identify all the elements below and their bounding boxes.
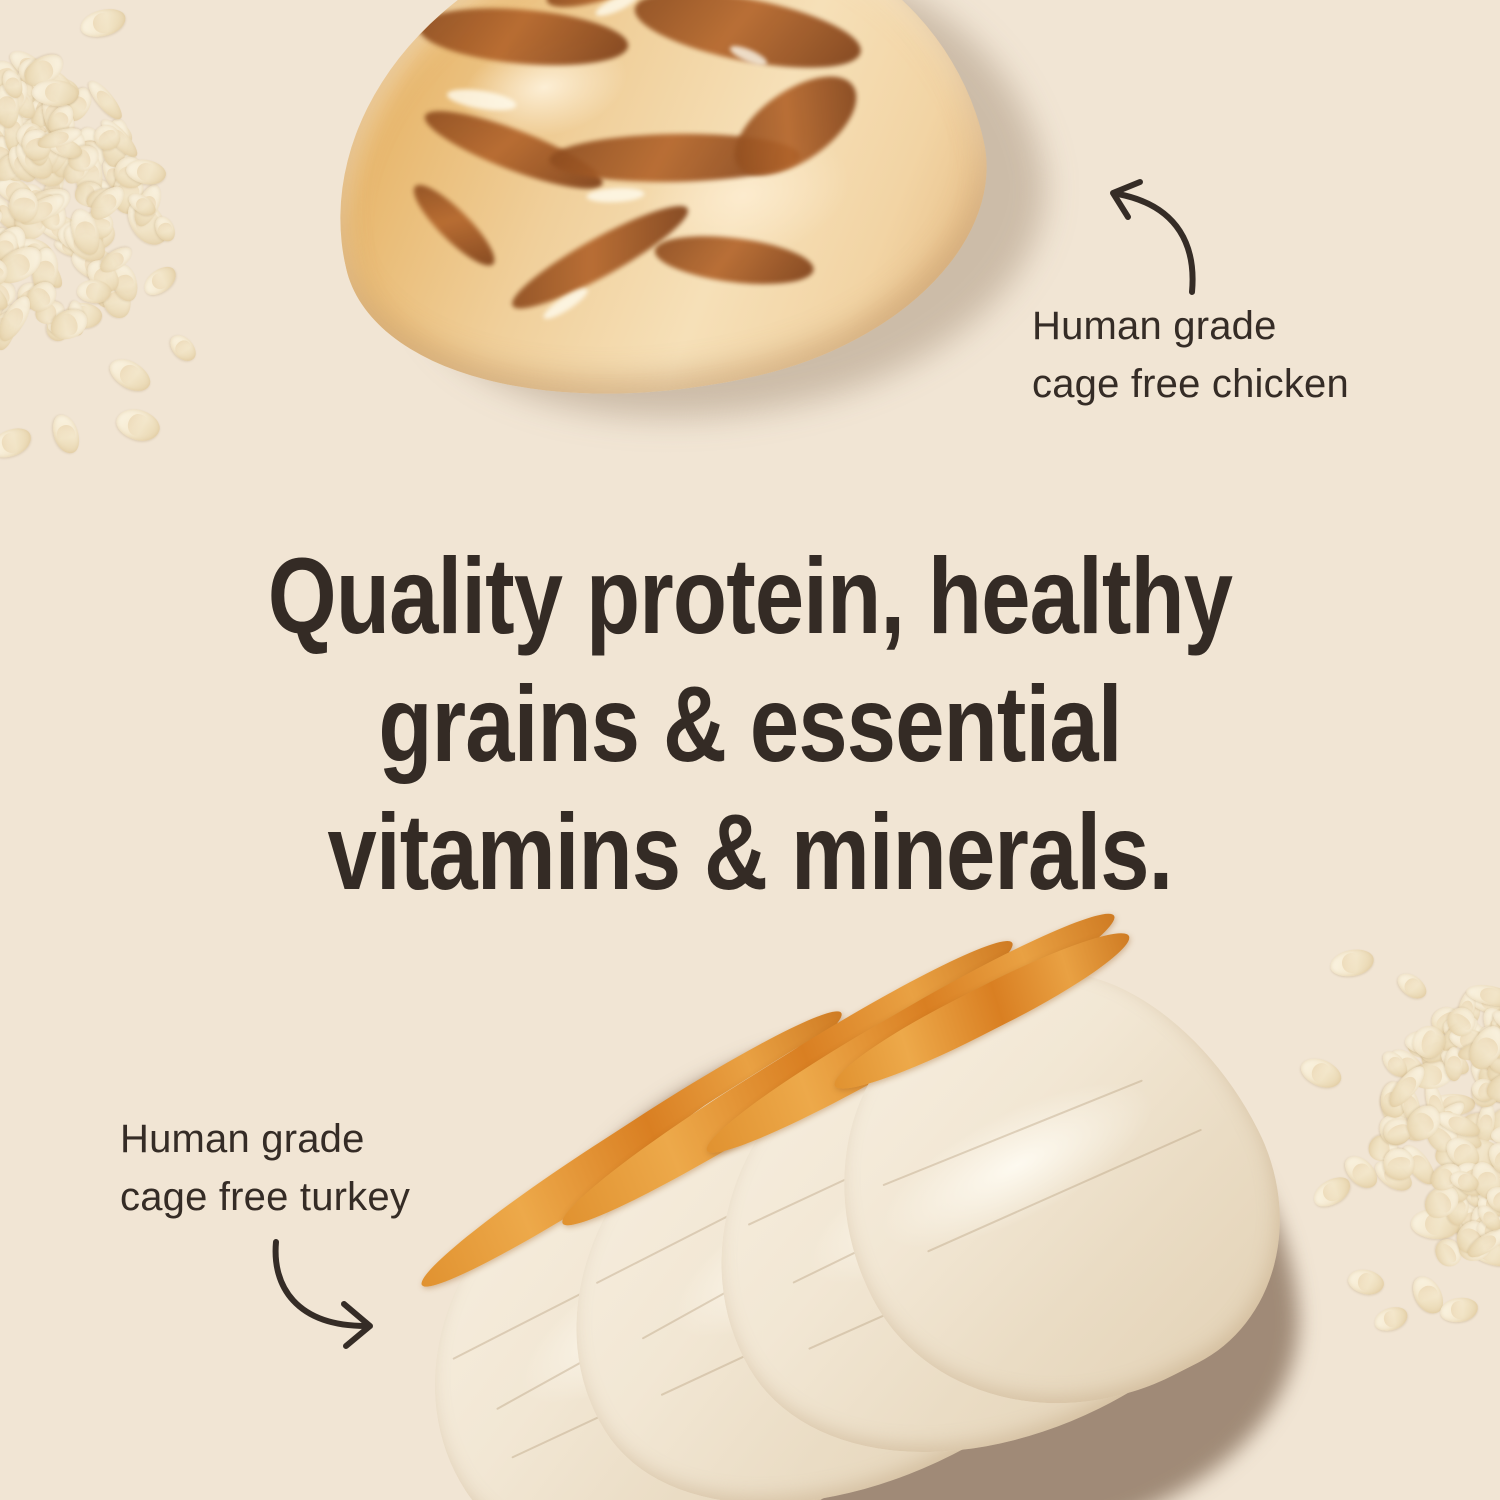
oats-cluster-left <box>0 0 230 450</box>
oat-flake <box>1309 1172 1356 1213</box>
oat-flake <box>1328 946 1376 979</box>
oat-flake <box>104 352 155 397</box>
oat-flake <box>112 404 163 446</box>
oat-flake <box>1297 1053 1346 1094</box>
callout-chicken-line-1: Human grade <box>1032 297 1349 355</box>
oat-flake <box>139 262 181 301</box>
headline-line-2: grains & essential <box>135 660 1365 788</box>
sliced-roast-turkey-breast-photo <box>346 922 1295 1500</box>
headline-line-1: Quality protein, healthy <box>135 532 1365 660</box>
oat-flake <box>48 411 83 456</box>
oat-flake <box>1346 1266 1387 1298</box>
callout-chicken-line-2: cage free chicken <box>1032 355 1349 413</box>
chicken-body <box>285 0 1024 461</box>
headline-line-3: vitamins & minerals. <box>135 788 1365 916</box>
oat-flake <box>0 423 35 463</box>
product-feature-banner: Human grade cage free chicken Quality pr… <box>0 0 1500 1500</box>
callout-chicken: Human grade cage free chicken <box>1032 297 1349 413</box>
curved-arrow-up-left-icon <box>1088 176 1218 296</box>
oats-cluster-right <box>1300 930 1500 1330</box>
oat-flake <box>1393 968 1431 1003</box>
page-title: Quality protein, healthy grains & essent… <box>135 532 1365 916</box>
grilled-chicken-breast-photo <box>246 0 1093 516</box>
oat-flake <box>1371 1303 1410 1334</box>
oat-flake <box>166 330 201 366</box>
oat-flake <box>78 5 129 41</box>
oat-flake <box>1439 1295 1480 1324</box>
